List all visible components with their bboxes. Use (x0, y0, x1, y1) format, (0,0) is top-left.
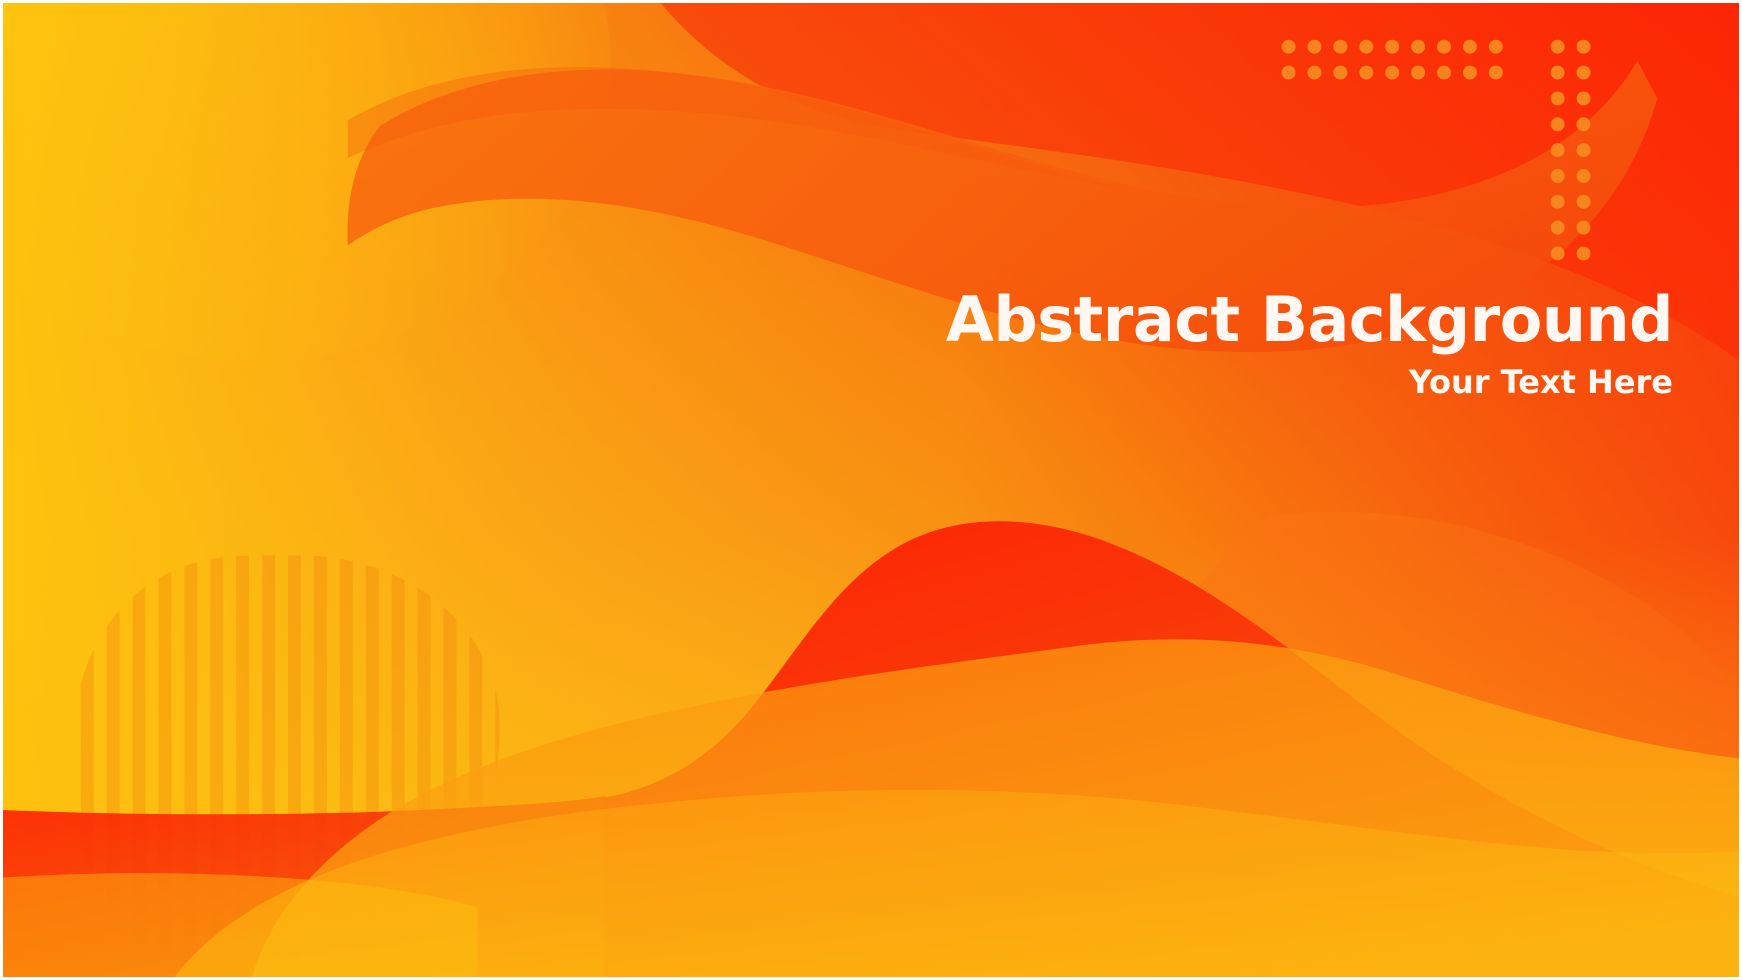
background-artwork (3, 3, 1739, 977)
abstract-background-banner: Abstract Background Your Text Here (0, 0, 1742, 980)
